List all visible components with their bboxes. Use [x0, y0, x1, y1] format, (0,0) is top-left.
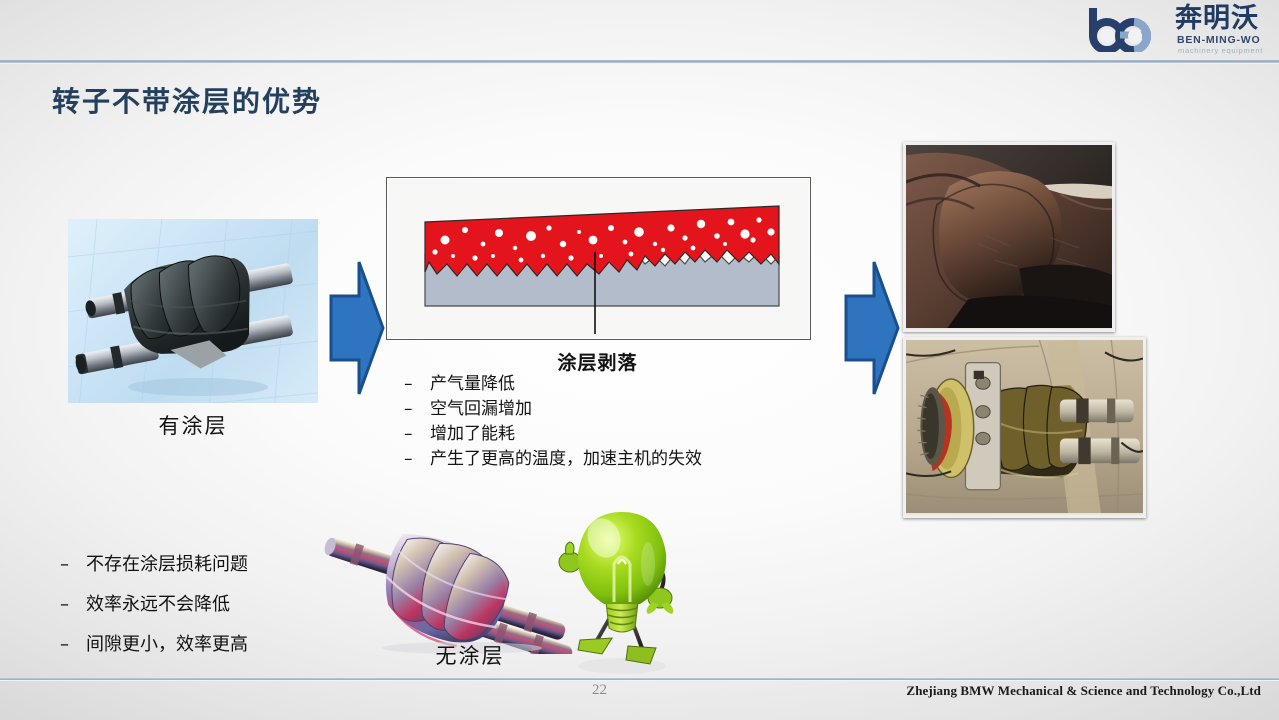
company-footer-text: Zhejiang BMW Mechanical & Science and Te… [906, 683, 1261, 699]
page-number: 22 [592, 682, 607, 699]
logo-brand-en: BEN-MING-WO [1177, 34, 1260, 46]
company-logo: 奔明沃 BEN-MING-WO machinery equipment [1089, 4, 1265, 56]
bo-monogram-icon [1089, 6, 1175, 52]
list-item-text: 增加了能耗 [430, 424, 515, 444]
logo-brand-cn: 奔明沃 [1175, 4, 1259, 34]
blue-right-arrow-2 [840, 258, 902, 398]
header-divider [0, 60, 1279, 63]
list-item: –产气量降低 [404, 372, 824, 397]
bullet-marker: – [404, 397, 430, 422]
page-title: 转子不带涂层的优势 [52, 80, 322, 120]
bullet-marker: – [60, 625, 86, 665]
list-item: –产生了更高的温度，加速主机的失效 [404, 447, 824, 472]
bullet-marker: – [404, 447, 430, 472]
coating-cross-section-graphic [387, 178, 810, 339]
uncoated-rotor-image [312, 524, 582, 654]
bullet-marker: – [60, 585, 86, 625]
coated-rotor-caption: 有涂层 [68, 410, 318, 440]
list-item-text: 产气量降低 [430, 374, 515, 394]
worn-rotor-lobes-photo [903, 142, 1115, 332]
list-item: –增加了能耗 [404, 422, 824, 447]
blue-right-arrow-1 [325, 258, 387, 398]
coated-rotor-image [68, 219, 318, 403]
logo-tagline: machinery equipment [1178, 46, 1263, 55]
slide-canvas: 奔明沃 BEN-MING-WO machinery equipment 转子不带… [0, 0, 1279, 720]
list-item-text: 间隙更小，效率更高 [86, 634, 248, 655]
footer-divider [0, 678, 1279, 680]
compressor-airend-photo [903, 337, 1146, 518]
list-item-text: 产生了更高的温度，加速主机的失效 [430, 449, 702, 469]
diagram-caption: 涂层剥落 [386, 348, 809, 375]
bullet-marker: – [404, 372, 430, 397]
compressor-airend-graphic [906, 340, 1143, 513]
bullet-marker: – [404, 422, 430, 447]
list-item: –空气回漏增加 [404, 397, 824, 422]
uncoated-rotor-caption: 无涂层 [360, 640, 580, 670]
coating-problem-list: –产气量降低 –空气回漏增加 –增加了能耗 –产生了更高的温度，加速主机的失效 [404, 372, 824, 472]
coating-delamination-diagram [386, 177, 811, 340]
list-item-text: 空气回漏增加 [430, 399, 532, 419]
list-item-text: 不存在涂层损耗问题 [86, 554, 248, 575]
bullet-marker: – [60, 545, 86, 585]
worn-rotor-lobes-graphic [906, 145, 1112, 328]
screw-rotor-pair-dark [68, 219, 318, 403]
list-item-text: 效率永远不会降低 [86, 594, 230, 615]
